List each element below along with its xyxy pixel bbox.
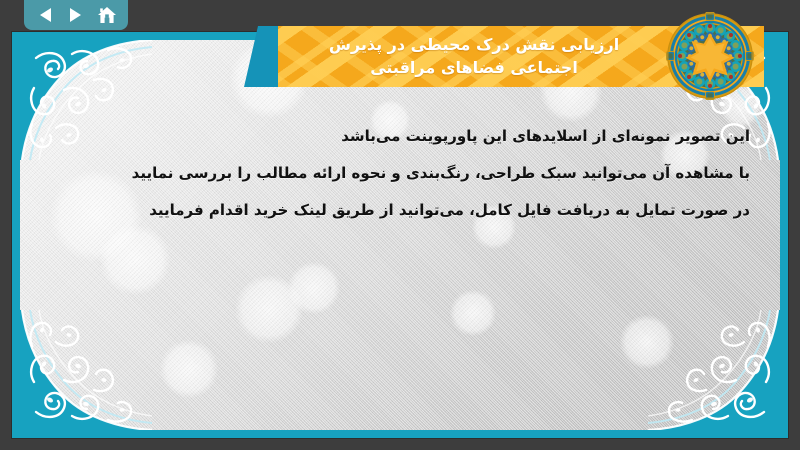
bokeh-circle — [235, 275, 303, 343]
home-button[interactable] — [95, 4, 119, 26]
title-banner: ارزیابی نقش درک محیطی در پذیرش اجتماعی ف… — [244, 26, 764, 87]
persian-medallion-icon — [666, 12, 754, 100]
bokeh-circle — [450, 290, 496, 336]
bokeh-circle — [160, 340, 218, 398]
arabesque-corner-icon — [20, 310, 152, 430]
body-line-3: در صورت تمایل به دریافت فایل کامل، می‌تو… — [80, 192, 750, 229]
body-line-1: این تصویر نمونه‌ای از اسلایدهای این پاور… — [80, 118, 750, 155]
body-line-2: با مشاهده آن می‌توانید سبک طراحی، رنگ‌بن… — [80, 155, 750, 192]
bokeh-circle — [288, 262, 340, 314]
navigation-bar — [24, 0, 128, 30]
arabesque-corner-icon — [648, 310, 780, 430]
title-line-1: ارزیابی نقش درک محیطی در پذیرش — [329, 34, 619, 57]
bokeh-circle — [620, 315, 674, 369]
back-button[interactable] — [33, 4, 57, 26]
forward-button[interactable] — [64, 4, 88, 26]
title-line-2: اجتماعی فضاهای مراقبتی — [370, 57, 578, 80]
slide-canvas: این تصویر نمونه‌ای از اسلایدهای این پاور… — [0, 0, 800, 450]
bokeh-circle — [100, 225, 170, 295]
forward-arrow-icon — [68, 7, 83, 23]
home-icon — [97, 6, 117, 24]
back-arrow-icon — [38, 7, 53, 23]
slide-body-text: این تصویر نمونه‌ای از اسلایدهای این پاور… — [80, 118, 750, 228]
